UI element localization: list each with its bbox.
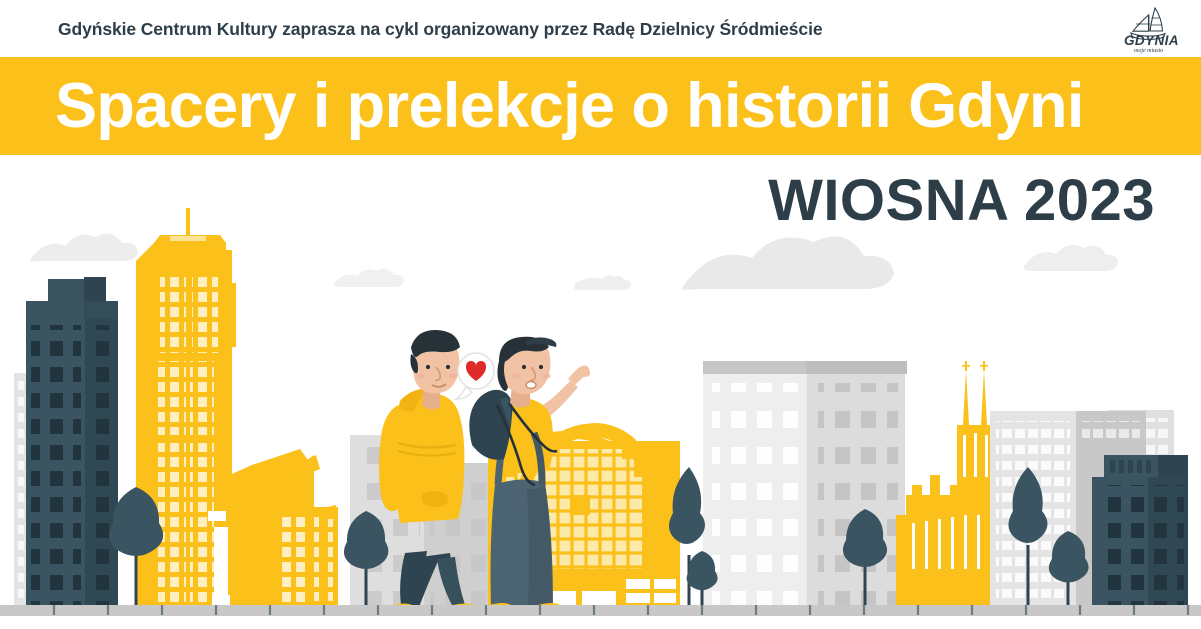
cloud [30,234,138,262]
logo-tagline: moje miasto [1134,48,1163,54]
cloud [574,275,631,290]
cloud [681,236,894,289]
gdynia-logo: GDYNIA moje miasto [1103,4,1189,54]
pavement-strip [0,605,1201,616]
grey-apartment-block [703,361,907,614]
cloud [1024,245,1118,271]
event-kicker-text: Gdyńskie Centrum Kultury zaprasza na cyk… [58,19,822,40]
logo-wordmark: GDYNIA [1124,33,1179,48]
poster-title: Spacery i prelekcje o historii Gdyni [55,62,1175,150]
cloud [333,269,404,287]
yellow-right-block [278,505,338,614]
city-illustration [0,155,1201,629]
dark-office-tower-right [1092,455,1188,614]
dark-office-tower-left [26,277,118,614]
poster-root: Gdyńskie Centrum Kultury zaprasza na cyk… [0,0,1201,629]
